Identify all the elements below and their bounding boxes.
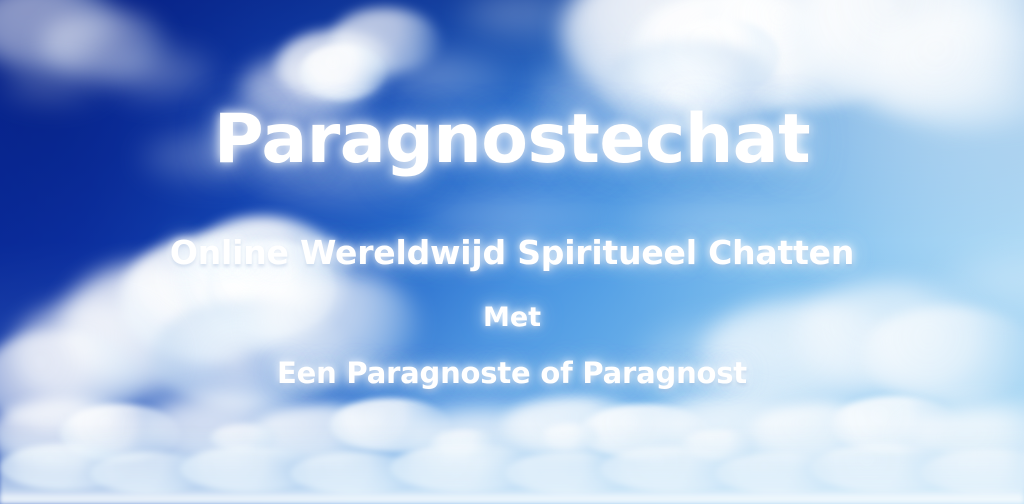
cloud-layer-horizon	[0, 0, 1024, 504]
horizon-line	[0, 490, 1024, 502]
sky-hero-banner: Paragnostechat Online Wereldwijd Spiritu…	[0, 0, 1024, 504]
